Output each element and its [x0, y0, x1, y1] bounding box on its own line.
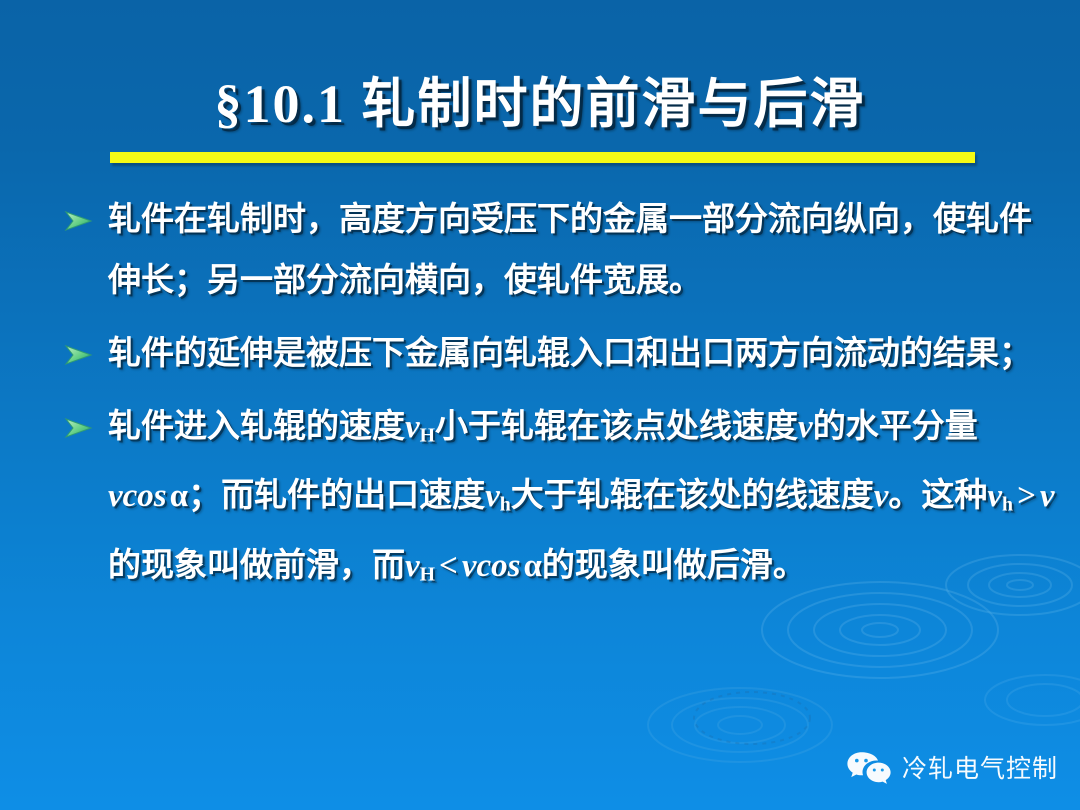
slide-title-container: §10.1 轧制时的前滑与后滑 [0, 74, 1080, 134]
variable-v: v [874, 478, 889, 514]
watermark: 冷轧电气控制 [846, 750, 1058, 788]
presentation-slide: §10.1 轧制时的前滑与后滑 轧件在轧制时，高度方向受压下的金属一部分流向 [0, 0, 1080, 810]
text-segment: 大于轧辊在该处的线速度 [511, 478, 874, 514]
list-item-label: 轧件在轧制时，高度方向受压下的金属一部分流向纵向，使轧件伸长；另一部分流向横向，… [108, 190, 1062, 312]
wechat-logo-icon [846, 750, 892, 788]
list-item-label: 轧件的延伸是被压下金属向轧辊入口和出口两方向流动的结果； [108, 324, 1062, 385]
variable-v-exit: vh [987, 478, 1013, 514]
list-item: 轧件的延伸是被压下金属向轧辊入口和出口两方向流动的结果； [62, 324, 1062, 385]
page-title: §10.1 轧制时的前滑与后滑 [215, 74, 866, 134]
list-item: 轧件进入轧辊的速度vH小于轧辊在该点处线速度v的水平分量vcosα；而轧件的出口… [62, 397, 1062, 605]
variable-v-exit: vh [485, 478, 511, 514]
text-segment: 的水平分量 [813, 409, 978, 445]
text-segment: 轧件进入轧辊的速度 [108, 409, 405, 445]
greek-alpha: α [521, 548, 542, 584]
arrow-bullet-icon [64, 190, 96, 251]
arrow-bullet-icon [64, 397, 96, 458]
text-segment: 。这种 [888, 478, 987, 514]
less-than-operator: < [435, 548, 462, 584]
variable-v-entry: vH [405, 548, 435, 584]
expression-vcos: vcos [462, 548, 521, 584]
text-segment: 小于轧辊在该点处线速度 [435, 409, 798, 445]
variable-v-entry: vH [405, 409, 435, 445]
greek-alpha: α [167, 478, 188, 514]
arrow-bullet-icon [64, 324, 96, 385]
text-segment: 的现象叫做后滑。 [542, 548, 806, 584]
list-item-label: 轧件进入轧辊的速度vH小于轧辊在该点处线速度v的水平分量vcosα；而轧件的出口… [108, 397, 1062, 605]
text-segment: 的现象叫做前滑，而 [108, 548, 405, 584]
bullet-list: 轧件在轧制时，高度方向受压下的金属一部分流向纵向，使轧件伸长；另一部分流向横向，… [62, 190, 1062, 617]
variable-v: v [798, 409, 813, 445]
list-item: 轧件在轧制时，高度方向受压下的金属一部分流向纵向，使轧件伸长；另一部分流向横向，… [62, 190, 1062, 312]
text-segment: ；而轧件的出口速度 [188, 478, 485, 514]
watermark-label: 冷轧电气控制 [902, 757, 1058, 782]
greater-than-operator: > [1013, 478, 1040, 514]
expression-vcos: vcos [108, 478, 167, 514]
title-underline-rule [110, 152, 975, 163]
variable-v: v [1040, 478, 1055, 514]
